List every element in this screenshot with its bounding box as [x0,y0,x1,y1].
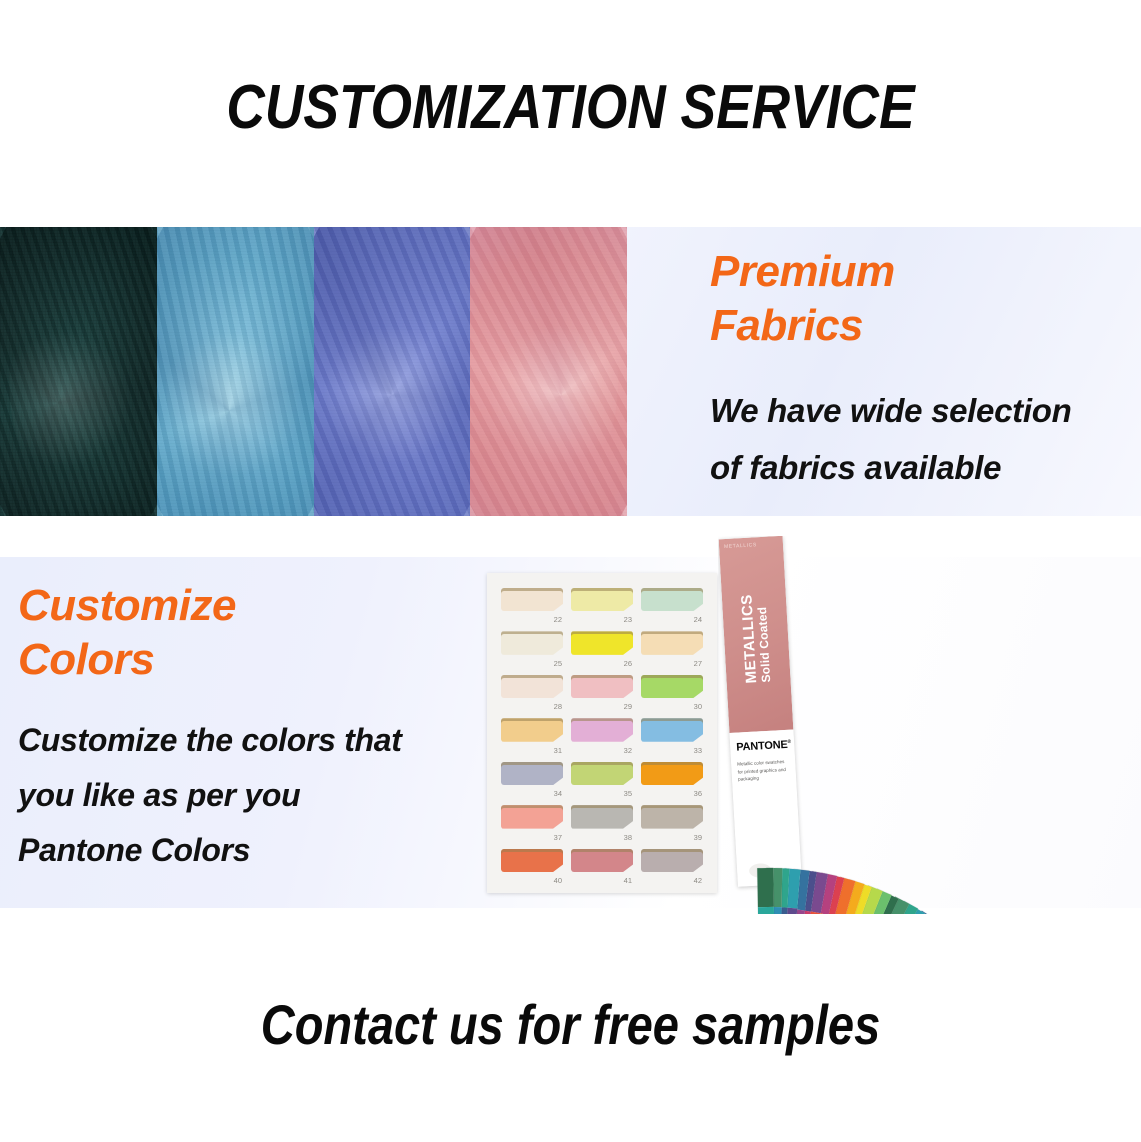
swatch-cell: 28 [501,672,563,709]
swatch-number-label: 36 [694,789,702,798]
swatch-number-label: 23 [624,615,632,624]
swatch-number-label: 34 [554,789,562,798]
swatch-number-label: 37 [554,833,562,842]
swatch-cell: 25 [501,628,563,665]
customize-colors-copy: Customize Colors Customize the colors th… [18,579,488,878]
swatch-cell: 29 [571,672,633,709]
swatch-cell: 24 [641,585,703,622]
customize-colors-body-line-2: you like as per you [18,768,488,823]
fan-deck-cover-tag: METALLICS [724,542,757,550]
swatch-number-label: 22 [554,615,562,624]
fabric-highlight [480,262,618,499]
swatch-cell: 40 [501,846,563,883]
premium-fabrics-section: Premium Fabrics We have wide selection o… [0,227,1141,516]
swatch-chip [641,631,703,654]
swatch-number-label: 39 [694,833,702,842]
swatch-chip [501,849,563,872]
swatch-chip [571,805,633,828]
swatch-cell: 38 [571,802,633,839]
swatch-cell: 37 [501,802,563,839]
fan-deck-cover-title-line-2: Solid Coated [755,593,773,683]
fabric-swatch-gallery [0,227,627,516]
customize-colors-heading-line-2: Colors [18,633,488,687]
swatch-cell: 33 [641,715,703,752]
swatch-number-label: 33 [694,746,702,755]
swatch-cell: 27 [641,628,703,665]
swatch-number-label: 24 [694,615,702,624]
swatch-chip [571,849,633,872]
premium-fabrics-copy: Premium Fabrics We have wide selection o… [710,245,1130,497]
fabric-swatch-periwinkle [314,227,471,516]
pantone-logo: PANTONE® [736,739,789,754]
premium-fabrics-heading: Premium Fabrics [710,245,1130,353]
pantone-metallics-fan-deck: METALLICS METALLICS Solid Coated PANTONE… [718,536,1141,914]
swatch-chip [641,762,703,785]
swatch-chip [641,805,703,828]
fan-deck-cover-subtext: Metallic color swatches for printed grap… [737,758,790,784]
swatch-number-label: 42 [694,876,702,885]
swatch-chip [501,805,563,828]
swatch-chip [501,762,563,785]
swatch-chip [501,718,563,741]
swatch-cell: 41 [571,846,633,883]
premium-fabrics-heading-line-2: Fabrics [710,299,1130,353]
fabric-highlight [9,262,147,499]
fabric-highlight [166,262,304,499]
footer-cta-text: Contact us for free samples [91,992,1049,1057]
premium-fabrics-body-line-2: of fabrics available [710,440,1130,497]
pantone-color-swatch-card: 2223242526272829303132333435363738394041… [487,573,717,893]
swatch-chip [641,849,703,872]
customize-colors-heading: Customize Colors [18,579,488,687]
swatch-number-label: 30 [694,702,702,711]
premium-fabrics-body: We have wide selection of fabrics availa… [710,383,1130,497]
swatch-chip [501,675,563,698]
customize-colors-body-line-1: Customize the colors that [18,713,488,768]
premium-fabrics-body-line-1: We have wide selection [710,383,1130,440]
swatch-cell: 23 [571,585,633,622]
promo-banner: CUSTOMIZATION SERVICE [0,0,1141,1142]
customize-colors-body-line-3: Pantone Colors [18,823,488,878]
swatch-number-label: 29 [624,702,632,711]
swatch-chip [571,675,633,698]
page-title: CUSTOMIZATION SERVICE [80,72,1061,143]
swatch-number-label: 31 [554,746,562,755]
swatch-number-label: 27 [694,659,702,668]
fan-deck-cover-title: METALLICS Solid Coated [739,593,773,684]
fan-deck-cover-top: METALLICS METALLICS Solid Coated [719,536,794,733]
swatch-chip [641,675,703,698]
swatch-cell: 26 [571,628,633,665]
swatch-cell: 31 [501,715,563,752]
fabric-highlight [323,262,461,499]
swatch-number-label: 40 [554,876,562,885]
swatch-number-label: 26 [624,659,632,668]
swatch-chip [571,762,633,785]
swatch-chip [571,718,633,741]
swatch-cell: 34 [501,759,563,796]
swatch-number-label: 35 [624,789,632,798]
swatch-number-label: 28 [554,702,562,711]
fan-deck-cover-bottom: PANTONE® Metallic color swatches for pri… [729,729,801,886]
swatch-chip [571,631,633,654]
fabric-swatch-pink [470,227,627,516]
swatch-number-label: 38 [624,833,632,842]
customize-colors-body: Customize the colors that you like as pe… [18,713,488,878]
swatch-cell: 22 [501,585,563,622]
swatch-cell: 39 [641,802,703,839]
swatch-chip [641,588,703,611]
premium-fabrics-heading-line-1: Premium [710,245,1130,299]
swatch-cell: 35 [571,759,633,796]
swatch-cell: 42 [641,846,703,883]
swatch-cell: 36 [641,759,703,796]
swatch-number-label: 41 [624,876,632,885]
swatch-chip [501,631,563,654]
pantone-wordmark: PANTONE [736,739,788,754]
fabric-swatch-teal [0,227,157,516]
registered-mark-icon: ® [787,739,791,745]
fabric-swatch-sky-blue [157,227,314,516]
swatch-cell: 32 [571,715,633,752]
swatch-cell: 30 [641,672,703,709]
swatch-chip [501,588,563,611]
swatch-chip [571,588,633,611]
customize-colors-heading-line-1: Customize [18,579,488,633]
swatch-number-label: 25 [554,659,562,668]
swatch-number-label: 32 [624,746,632,755]
swatch-chip [641,718,703,741]
